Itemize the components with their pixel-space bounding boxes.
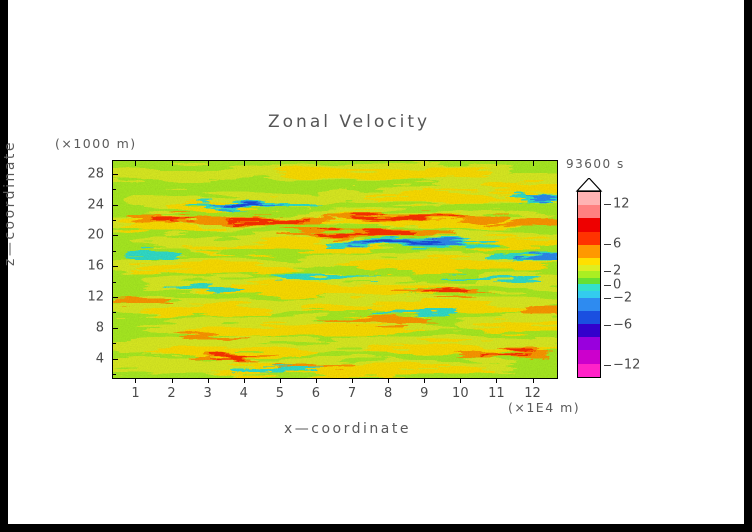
y-tick-label: 8 <box>78 320 104 335</box>
colorbar-segment <box>578 192 600 205</box>
colorbar-segment <box>578 278 600 285</box>
x-tick-label: 2 <box>167 386 175 401</box>
x-tick-bottom <box>388 378 389 383</box>
colorbar-tick-label: −6 <box>613 317 632 332</box>
y-tick-label: 20 <box>78 228 104 243</box>
colorbar-segment <box>578 284 600 291</box>
x-tick-bottom <box>135 378 136 383</box>
x-axis-units-label: (×1E4 m) <box>508 400 580 415</box>
colorbar-segment <box>578 298 600 311</box>
x-axis-title: x—coordinate <box>284 421 411 437</box>
x-tick-label: 12 <box>524 386 541 401</box>
y-minor-tick <box>113 189 116 190</box>
y-minor-tick <box>113 312 116 313</box>
x-tick-top <box>208 161 209 166</box>
colorbar-arrow-cap <box>575 178 603 192</box>
y-tick <box>113 297 118 298</box>
y-tick-label: 16 <box>78 259 104 274</box>
colorbar-tick <box>604 365 611 366</box>
x-tick-top <box>352 161 353 166</box>
colorbar-segment <box>578 337 600 350</box>
page-title: Zonal Velocity <box>268 112 430 132</box>
colorbar-segment <box>578 205 600 218</box>
colorbar-segment <box>578 258 600 265</box>
colorbar-segment <box>578 265 600 272</box>
x-tick-bottom <box>280 378 281 383</box>
y-minor-tick <box>113 282 116 283</box>
timestamp-label: 93600 s <box>566 157 625 171</box>
colorbar-tick <box>604 325 611 326</box>
y-tick <box>113 359 118 360</box>
colorbar-segment <box>578 291 600 298</box>
colorbar-tick-label: −2 <box>613 290 632 305</box>
colorbar-tick <box>604 285 611 286</box>
plot-area <box>112 160 558 379</box>
x-tick-top <box>280 161 281 166</box>
colorbar-segment <box>578 218 600 231</box>
x-tick-bottom <box>460 378 461 383</box>
colorbar-tick-label: −12 <box>613 357 640 372</box>
x-tick-label: 5 <box>276 386 284 401</box>
y-tick-label: 28 <box>78 166 104 181</box>
y-tick <box>113 205 118 206</box>
x-tick-top <box>316 161 317 166</box>
x-tick-top <box>244 161 245 166</box>
z-axis-units-label: (×1000 m) <box>55 136 137 151</box>
x-tick-top <box>135 161 136 166</box>
x-tick-bottom <box>424 378 425 383</box>
x-tick-label: 6 <box>312 386 320 401</box>
y-minor-tick <box>113 251 116 252</box>
colorbar-segment <box>578 364 600 377</box>
figure-canvas: Zonal Velocity (×1000 m) (×1E4 m) 93600 … <box>8 0 744 524</box>
x-tick-label: 4 <box>240 386 248 401</box>
x-tick-bottom <box>172 378 173 383</box>
colorbar-segment <box>578 232 600 245</box>
y-axis-title: z—coordinate <box>2 140 18 266</box>
x-tick-label: 8 <box>384 386 392 401</box>
colorbar-tick <box>604 271 611 272</box>
y-tick-label: 24 <box>78 197 104 212</box>
x-tick-top <box>388 161 389 166</box>
colorbar-tick-label: 12 <box>613 197 630 212</box>
y-tick <box>113 328 118 329</box>
colorbar-segment <box>578 324 600 337</box>
x-tick-top <box>496 161 497 166</box>
colorbar-tick <box>604 244 611 245</box>
x-tick-bottom <box>244 378 245 383</box>
y-tick-label: 4 <box>78 351 104 366</box>
y-tick <box>113 235 118 236</box>
colorbar-segment <box>578 311 600 324</box>
colorbar-tick-label: 6 <box>613 237 621 252</box>
heatmap-field <box>113 161 557 378</box>
x-tick-label: 7 <box>348 386 356 401</box>
x-tick-bottom <box>208 378 209 383</box>
y-minor-tick <box>113 220 116 221</box>
y-tick <box>113 174 118 175</box>
y-tick <box>113 266 118 267</box>
colorbar <box>575 178 603 378</box>
y-tick-label: 12 <box>78 289 104 304</box>
y-minor-tick <box>113 374 116 375</box>
colorbar-segment <box>578 271 600 278</box>
y-minor-tick <box>113 343 116 344</box>
x-tick-top <box>172 161 173 166</box>
colorbar-segment <box>578 245 600 258</box>
x-tick-top <box>533 161 534 166</box>
colorbar-segment <box>578 350 600 363</box>
x-tick-label: 3 <box>204 386 212 401</box>
x-tick-label: 1 <box>131 386 139 401</box>
x-tick-bottom <box>496 378 497 383</box>
colorbar-gradient <box>577 191 601 378</box>
x-tick-bottom <box>316 378 317 383</box>
x-tick-bottom <box>352 378 353 383</box>
x-tick-label: 11 <box>488 386 505 401</box>
x-tick-label: 9 <box>420 386 428 401</box>
colorbar-tick <box>604 298 611 299</box>
colorbar-tick <box>604 204 611 205</box>
x-tick-label: 10 <box>452 386 469 401</box>
x-tick-top <box>424 161 425 166</box>
x-tick-bottom <box>533 378 534 383</box>
x-tick-top <box>460 161 461 166</box>
